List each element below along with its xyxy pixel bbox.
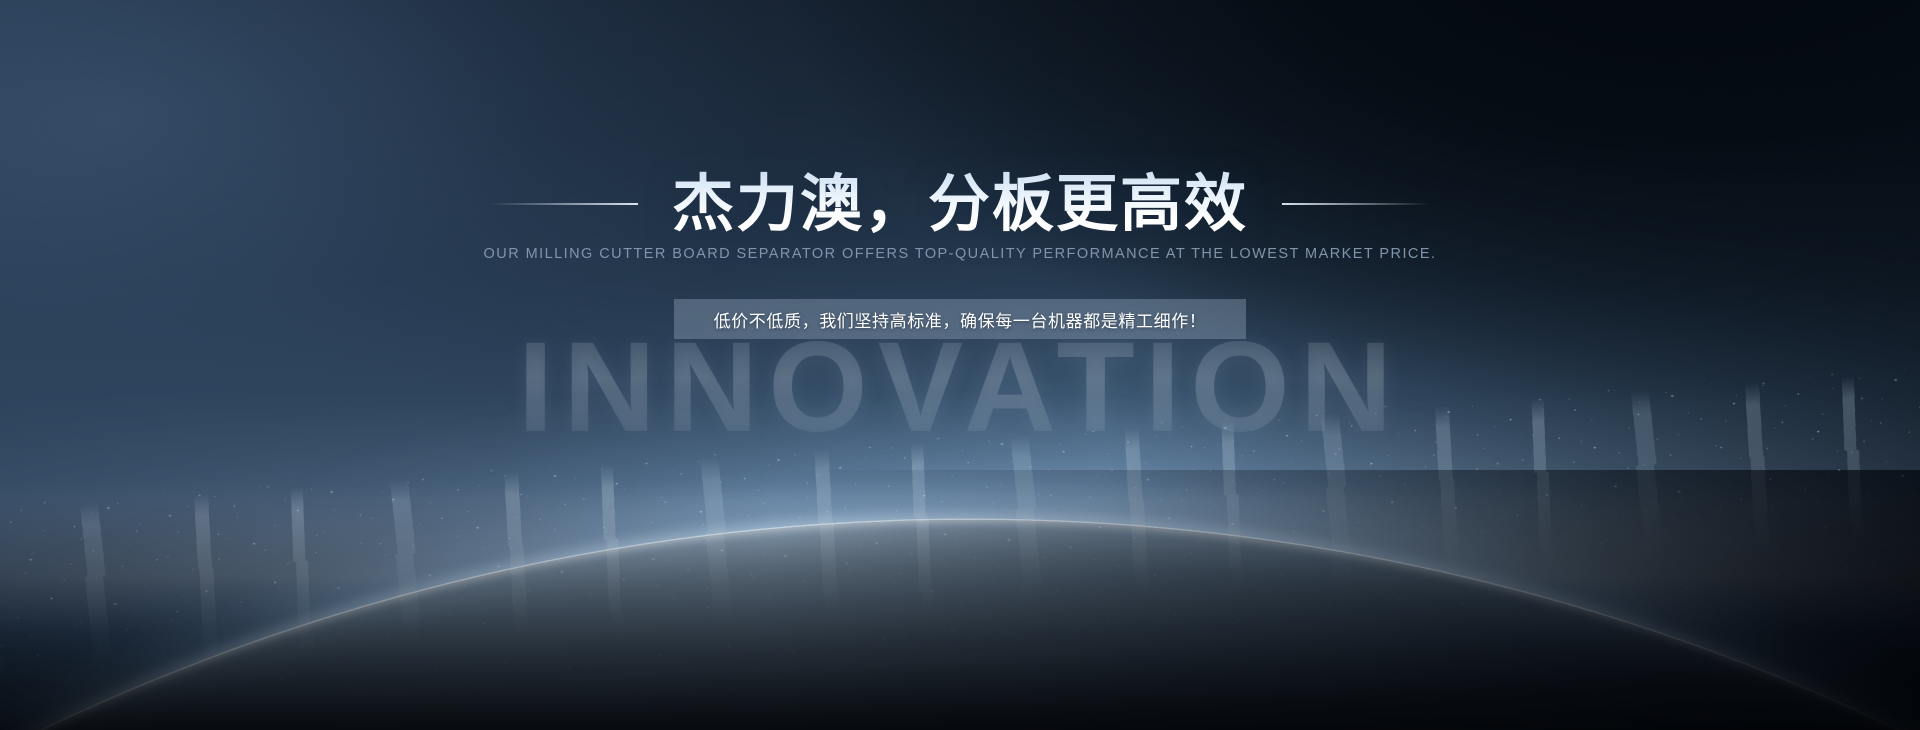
page-title: 杰力澳，分板更高效 [672,170,1248,239]
hero-subtitle: OUR MILLING CUTTER BOARD SEPARATOR OFFER… [0,246,1920,262]
right-divider-rule [1282,203,1430,205]
tagline-banner: 低价不低质，我们坚持高标准，确保每一台机器都是精工细作！ [674,299,1246,339]
hero-content: 杰力澳，分板更高效 OUR MILLING CUTTER BOARD SEPAR… [0,0,1920,730]
left-divider-rule [490,203,638,205]
hero-banner: INNOVATION 杰力澳，分板更高效 OUR MILLING CUTTER … [0,0,1920,730]
tagline-text: 低价不低质，我们坚持高标准，确保每一台机器都是精工细作！ [714,307,1207,332]
